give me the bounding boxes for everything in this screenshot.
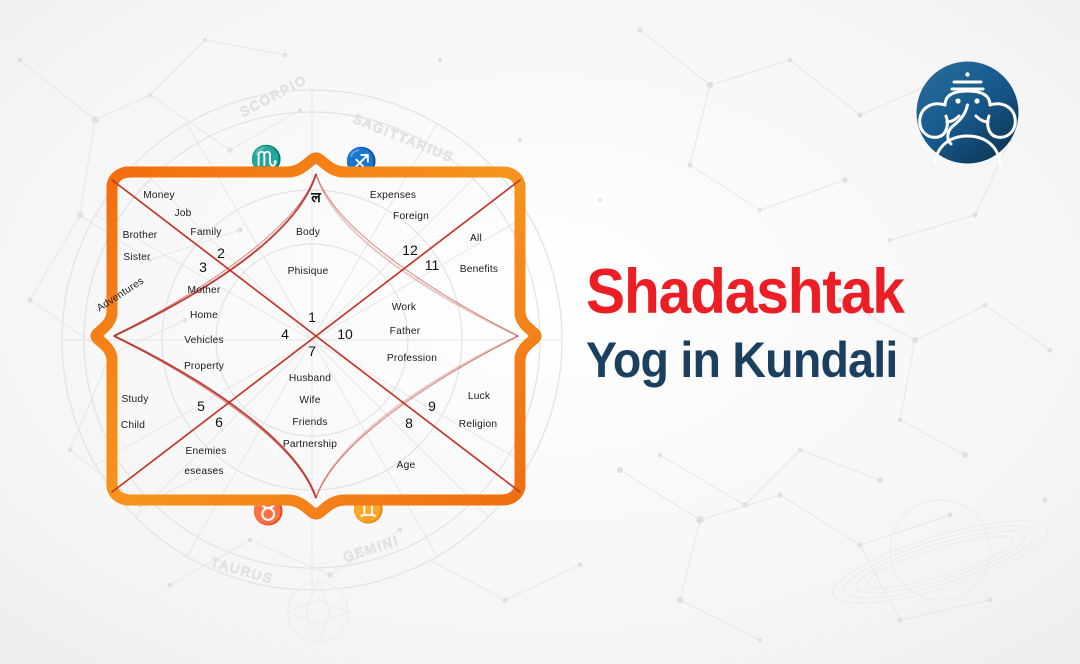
- logo-circle: [917, 62, 1019, 164]
- label-family: Family: [190, 227, 222, 238]
- house-number-7: 7: [308, 343, 316, 359]
- label-property: Property: [184, 361, 225, 372]
- label-mother: Mother: [188, 285, 221, 296]
- label-expenses: Expenses: [370, 190, 416, 201]
- house-number-4: 4: [281, 326, 289, 342]
- label-money: Money: [143, 190, 175, 201]
- planet-motif: [825, 500, 1054, 620]
- banner-root: SCORPIO SAGITTARIUS TAURUS GEMINI ♏ ♐ ♉ …: [0, 0, 1080, 664]
- label-home: Home: [190, 310, 218, 321]
- kundali-chart[interactable]: 1 4 10 7 2 3 12 11 5 6 9 8 ल Money Job F…: [82, 162, 550, 510]
- label-vehicles: Vehicles: [184, 335, 224, 346]
- label-partnership: Partnership: [283, 439, 337, 450]
- page-subtitle: Yog in Kundali: [586, 334, 995, 387]
- house-number-8: 8: [405, 415, 413, 431]
- label-father: Father: [390, 326, 421, 337]
- label-job: Job: [174, 208, 191, 219]
- label-brother: Brother: [123, 230, 158, 241]
- label-child: Child: [121, 420, 145, 431]
- label-luck: Luck: [468, 391, 491, 402]
- label-body: Body: [296, 227, 321, 238]
- label-wife: Wife: [299, 395, 320, 406]
- svg-text:SCORPIO: SCORPIO: [237, 72, 309, 120]
- label-age: Age: [397, 460, 416, 471]
- label-enemies: Enemies: [185, 446, 226, 457]
- lagna-glyph: ल: [310, 189, 321, 205]
- house-number-9: 9: [428, 398, 436, 414]
- house-number-3: 3: [199, 259, 207, 275]
- label-benefits: Benefits: [460, 264, 498, 275]
- house-number-1: 1: [308, 309, 316, 325]
- house-number-6: 6: [215, 414, 223, 430]
- label-diseases: eseases: [184, 466, 223, 477]
- compass-motif: [286, 580, 350, 644]
- svg-text:SAGITTARIUS: SAGITTARIUS: [351, 111, 456, 165]
- house-number-2: 2: [217, 245, 225, 261]
- house-number-11: 11: [425, 257, 440, 273]
- house-number-5: 5: [197, 398, 205, 414]
- label-husband: Husband: [289, 373, 331, 384]
- svg-text:GEMINI: GEMINI: [341, 533, 401, 565]
- page-title: Shadashtak: [586, 262, 995, 324]
- house-number-10: 10: [337, 326, 353, 342]
- label-profession: Profession: [387, 353, 437, 364]
- title-block: Shadashtak Yog in Kundali: [586, 262, 1026, 386]
- label-adventures: Adventures: [95, 276, 146, 314]
- label-foreign: Foreign: [393, 211, 429, 222]
- label-sister: Sister: [123, 252, 151, 263]
- label-study: Study: [121, 394, 149, 405]
- house-number-12: 12: [402, 242, 418, 258]
- label-friends: Friends: [292, 417, 327, 428]
- label-phisique: Phisique: [288, 266, 329, 277]
- ganesha-logo[interactable]: [915, 60, 1020, 165]
- svg-text:TAURUS: TAURUS: [209, 554, 275, 586]
- label-work: Work: [392, 302, 417, 313]
- label-all: All: [470, 233, 482, 244]
- label-religion: Religion: [459, 419, 497, 430]
